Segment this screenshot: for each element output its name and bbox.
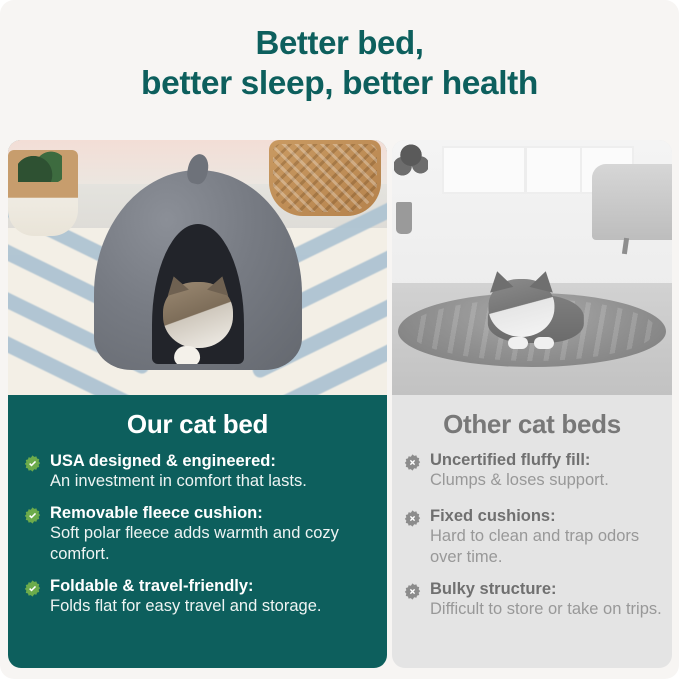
our-cat-bed-content: Our cat bed USA designed & engineered: A… — [8, 395, 387, 628]
drawback-heading: Bulky structure: — [430, 579, 662, 599]
cat-face — [163, 282, 233, 348]
cat-ear-left — [485, 268, 513, 292]
benefit-heading: Removable fleece cushion: — [50, 503, 373, 523]
benefit-detail: Folds flat for easy travel and storage. — [50, 596, 321, 616]
drawback-detail: Hard to clean and trap odors over time. — [430, 526, 662, 566]
list-item: USA designed & engineered: An investment… — [8, 451, 387, 503]
other-cat-beds-panel: Other cat beds Uncertified fluffy fill: … — [392, 140, 672, 668]
benefit-detail: Soft polar fleece adds warmth and cozy c… — [50, 523, 373, 563]
drawback-detail: Clumps & loses support. — [430, 470, 609, 490]
plant-icon — [18, 146, 62, 182]
x-badge-icon — [404, 510, 421, 527]
list-item: Foldable & travel-friendly: Folds flat f… — [8, 576, 387, 628]
drawback-detail: Difficult to store or take on trips. — [430, 599, 662, 619]
room-scene-right — [392, 140, 672, 395]
vase — [396, 202, 412, 234]
other-cat-beds-drawback-list: Uncertified fluffy fill: Clumps & loses … — [392, 450, 672, 631]
sofa-leg — [622, 238, 629, 255]
cat-face — [488, 279, 554, 337]
woven-basket-with-plant — [8, 150, 78, 236]
cat-ear-left — [163, 273, 189, 295]
list-item: Bulky structure: Difficult to store or t… — [392, 579, 672, 631]
x-badge-icon — [404, 583, 421, 600]
our-cat-bed-photo — [8, 140, 387, 395]
page-title: Better bed, better sleep, better health — [0, 22, 679, 104]
benefit-detail: An investment in comfort that lasts. — [50, 471, 307, 491]
check-badge-icon — [24, 580, 41, 597]
other-cat-beds-title: Other cat beds — [392, 395, 672, 450]
list-item: Fixed cushions: Hard to clean and trap o… — [392, 502, 672, 578]
sofa — [592, 164, 672, 240]
list-item-text: Uncertified fluffy fill: Clumps & loses … — [430, 450, 609, 490]
cat-ear-right — [207, 273, 233, 295]
our-cat-bed-title: Our cat bed — [8, 395, 387, 451]
list-item: Uncertified fluffy fill: Clumps & loses … — [392, 450, 672, 502]
comparison-infographic: Better bed, better sleep, better health — [0, 0, 679, 679]
benefit-heading: Foldable & travel-friendly: — [50, 576, 321, 596]
cat-paw-right — [534, 337, 554, 349]
drawback-heading: Fixed cushions: — [430, 506, 662, 526]
list-item-text: Fixed cushions: Hard to clean and trap o… — [430, 506, 662, 566]
drawback-heading: Uncertified fluffy fill: — [430, 450, 609, 470]
cat-ear-right — [529, 268, 557, 292]
our-cat-bed-benefit-list: USA designed & engineered: An investment… — [8, 451, 387, 628]
list-item-text: Bulky structure: Difficult to store or t… — [430, 579, 662, 619]
our-cat-bed-panel: Our cat bed USA designed & engineered: A… — [8, 140, 387, 668]
cat-paw — [174, 346, 200, 364]
headline-line-1: Better bed, — [0, 22, 679, 63]
woven-basket — [269, 140, 381, 216]
benefit-heading: USA designed & engineered: — [50, 451, 307, 471]
list-item: Removable fleece cushion: Soft polar fle… — [8, 503, 387, 575]
list-item-text: USA designed & engineered: An investment… — [50, 451, 307, 491]
list-item-text: Foldable & travel-friendly: Folds flat f… — [50, 576, 321, 616]
check-badge-icon — [24, 455, 41, 472]
other-cat-beds-content: Other cat beds Uncertified fluffy fill: … — [392, 395, 672, 631]
list-item-text: Removable fleece cushion: Soft polar fle… — [50, 503, 373, 563]
headline-line-2: better sleep, better health — [0, 63, 679, 104]
room-scene-left — [8, 140, 387, 395]
check-badge-icon — [24, 507, 41, 524]
other-cat-beds-photo — [392, 140, 672, 395]
x-badge-icon — [404, 454, 421, 471]
cat-paw-left — [508, 337, 528, 349]
tent-opening — [152, 224, 244, 364]
plant-icon — [394, 142, 428, 186]
